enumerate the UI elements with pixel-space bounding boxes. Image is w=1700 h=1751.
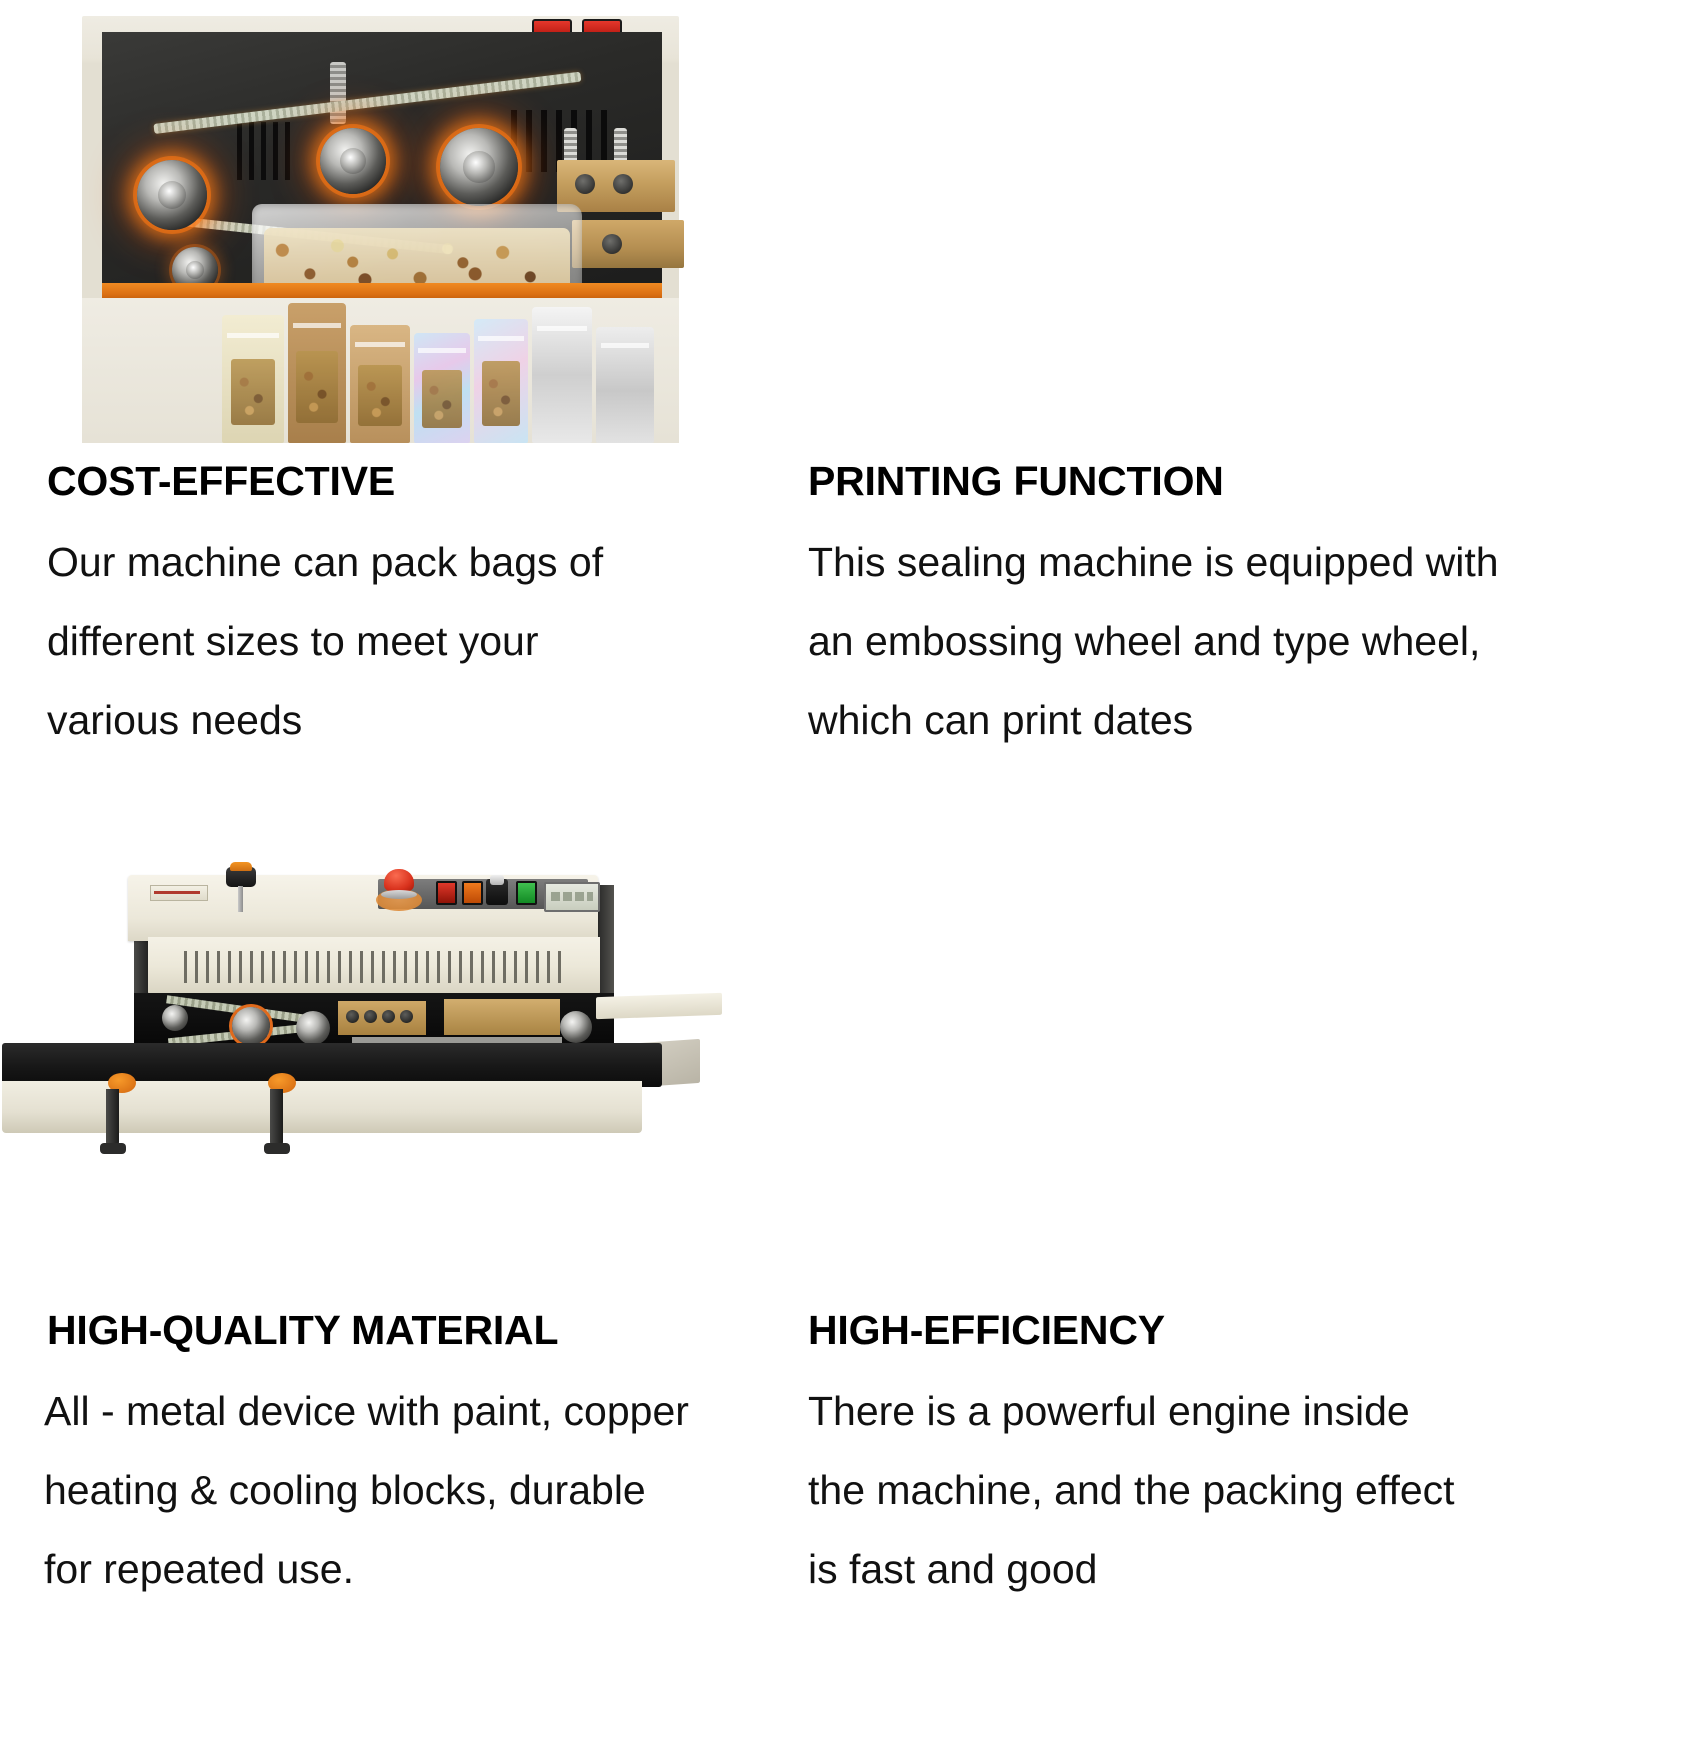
conveyor-body <box>2 1081 642 1133</box>
inspection-window <box>102 32 662 290</box>
vent-slots-left <box>230 122 292 180</box>
product-pouch-row <box>222 298 679 443</box>
drive-pulley-2 <box>320 128 386 194</box>
speed-dial[interactable] <box>486 879 508 905</box>
feature-card-high-efficiency: HIGH-EFFICIENCY There is a powerful engi… <box>793 855 1700 1751</box>
control-panel <box>378 879 588 909</box>
pouch-holographic-1 <box>414 333 470 443</box>
threaded-column <box>330 62 346 124</box>
roller-1 <box>162 1005 188 1031</box>
heater-switch[interactable] <box>462 881 483 905</box>
feature-card-cost-effective: COST-EFFECTIVE Our machine can pack bags… <box>0 0 793 855</box>
feature-card-printing-function: 2010 05 30 20 10 PRINTING FUNCTION This … <box>793 0 1700 855</box>
cover-vent-slots <box>176 951 568 983</box>
brass-cooling-block <box>444 999 560 1035</box>
body-line: Our machine can pack bags of <box>47 523 603 602</box>
foot-right <box>264 1143 290 1154</box>
leg-left <box>106 1089 119 1147</box>
feature-title-high-quality-material: HIGH-QUALITY MATERIAL <box>47 1307 558 1354</box>
brass-heating-block <box>338 1001 426 1035</box>
body-line: heating & cooling blocks, durable <box>44 1451 689 1530</box>
foot-left <box>100 1143 126 1154</box>
emergency-stop-button[interactable] <box>384 869 414 891</box>
body-line: This sealing machine is equipped with <box>808 523 1499 602</box>
feature-body-high-quality-material: All - metal device with paint, copper he… <box>44 1372 689 1609</box>
sealer-interior-photo <box>62 0 679 443</box>
body-line: the machine, and the packing effect <box>808 1451 1455 1530</box>
pouch-holographic-2 <box>474 319 528 443</box>
pouch-kraft-1 <box>288 303 346 443</box>
full-machine-photo <box>0 855 760 1185</box>
leg-right <box>270 1089 283 1147</box>
pouch-kraft-2 <box>350 325 410 443</box>
feature-title-printing-function: PRINTING FUNCTION <box>808 458 1224 505</box>
drive-pulley-1 <box>137 160 207 230</box>
body-line: various needs <box>47 681 603 760</box>
body-line: which can print dates <box>808 681 1499 760</box>
body-line: All - metal device with paint, copper <box>44 1372 689 1451</box>
feature-title-high-efficiency: HIGH-EFFICIENCY <box>808 1307 1165 1354</box>
body-line: There is a powerful engine inside <box>808 1372 1455 1451</box>
body-line: an embossing wheel and type wheel, <box>808 602 1499 681</box>
spec-label <box>150 885 208 901</box>
feature-title-cost-effective: COST-EFFECTIVE <box>47 458 395 505</box>
feature-body-cost-effective: Our machine can pack bags of different s… <box>47 523 603 760</box>
roller-2 <box>232 1007 270 1045</box>
vented-head-cover <box>148 937 600 995</box>
roller-3 <box>296 1011 330 1045</box>
feature-body-high-efficiency: There is a powerful engine inside the ma… <box>808 1372 1455 1609</box>
sealing-head-top <box>128 875 598 941</box>
output-tray-upper <box>596 993 722 1019</box>
feature-grid: COST-EFFECTIVE Our machine can pack bags… <box>0 0 1700 1751</box>
body-line: for repeated use. <box>44 1530 689 1609</box>
body-line: is fast and good <box>808 1530 1455 1609</box>
pouch-silver-1 <box>532 307 592 443</box>
pouch-cream <box>222 315 284 443</box>
brass-cooling-block <box>572 220 684 268</box>
roller-4 <box>560 1011 592 1043</box>
height-adjust-knob <box>226 867 256 887</box>
feature-body-printing-function: This sealing machine is equipped with an… <box>808 523 1499 760</box>
power-switch[interactable] <box>436 881 457 905</box>
drive-pulley-3 <box>440 128 518 206</box>
start-switch[interactable] <box>516 881 537 905</box>
pouch-silver-2 <box>596 327 654 443</box>
temperature-display <box>544 882 600 912</box>
feature-card-high-quality-material: HIGH-QUALITY MATERIAL All - metal device… <box>0 855 793 1751</box>
body-line: different sizes to meet your <box>47 602 603 681</box>
